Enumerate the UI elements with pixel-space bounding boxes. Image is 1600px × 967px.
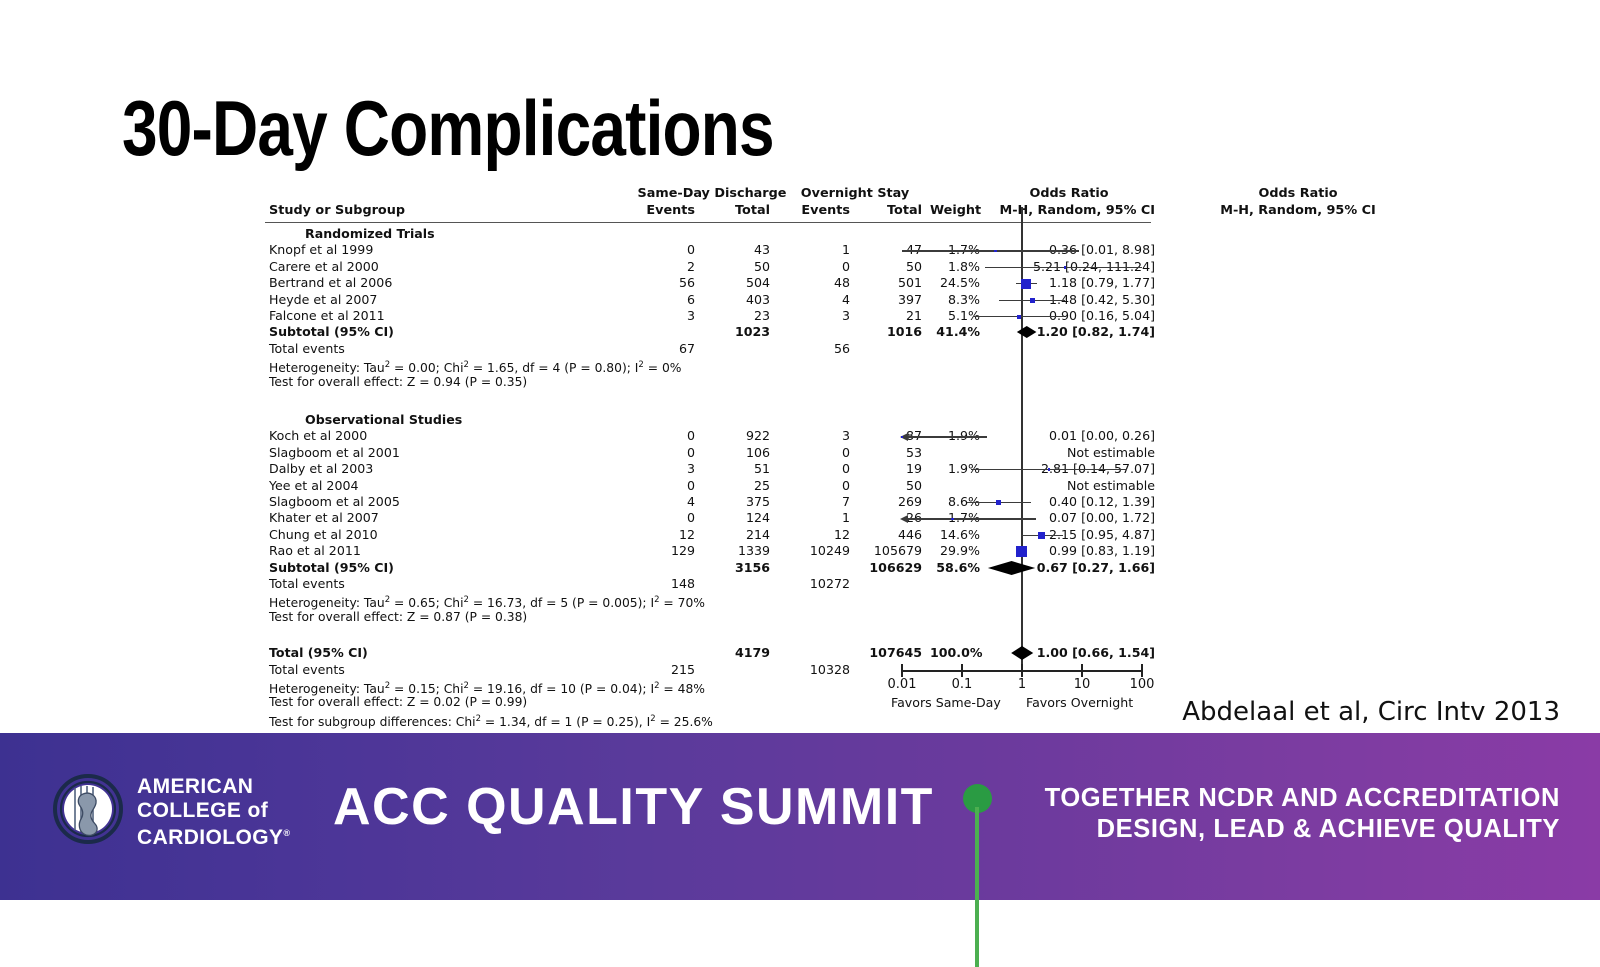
grand-total-events-1: 215 (635, 662, 695, 678)
events-1: 129 (635, 543, 695, 559)
footer-tagline: TOGETHER NCDR AND ACCREDITATION DESIGN, … (1012, 783, 1560, 845)
events-2: 4 (790, 292, 850, 308)
axis-tick (1081, 664, 1083, 677)
total-1: 50 (710, 259, 770, 275)
total-1: 43 (710, 242, 770, 258)
axis-tick-label: 0.1 (952, 677, 973, 692)
events-2: 3 (790, 428, 850, 444)
study-marker (996, 500, 1001, 505)
total-1: 403 (710, 292, 770, 308)
events-2: 1 (790, 510, 850, 526)
events-1: 56 (635, 275, 695, 291)
forest-plot-graph: 0.010.1110100Favors Same-DayFavors Overn… (889, 186, 1155, 721)
registered-mark-icon: ® (283, 828, 290, 838)
subgroup-differences-text: Test for subgroup differences: Chi2 = 1.… (269, 711, 929, 730)
page-title: 30-Day Complications (122, 83, 774, 173)
study-name: Yee et al 2004 (269, 478, 358, 494)
total-1: 51 (710, 461, 770, 477)
grand-total-events-label: Total events (269, 662, 345, 678)
events-1: 0 (635, 445, 695, 461)
ci-left-arrow-icon (900, 515, 908, 523)
axis-tick (1021, 664, 1023, 677)
study-marker (1048, 468, 1051, 471)
study-name: Slagboom et al 2001 (269, 445, 400, 461)
events-1: 12 (635, 527, 695, 543)
total-1: 124 (710, 510, 770, 526)
events-1: 3 (635, 461, 695, 477)
total-1: 922 (710, 428, 770, 444)
acc-logo-icon (53, 774, 123, 844)
study-name: Carere et al 2000 (269, 259, 379, 275)
favors-right-label: Favors Overnight (1026, 695, 1133, 710)
study-marker (1064, 266, 1067, 269)
study-marker (994, 250, 997, 253)
study-name: Dalby et al 2003 (269, 461, 373, 477)
total-events-2: 10272 (790, 576, 850, 592)
plot-axis: 0.010.1110100Favors Same-DayFavors Overn… (889, 660, 1155, 706)
grand-total-events-2: 10328 (790, 662, 850, 678)
total-total-1: 4179 (710, 645, 770, 661)
axis-tick-label: 100 (1130, 677, 1155, 692)
events-2: 12 (790, 527, 850, 543)
study-name: Falcone et al 2011 (269, 308, 385, 324)
confidence-interval-line (902, 250, 1079, 251)
subtotal-label: Subtotal (95% CI) (269, 324, 394, 340)
total-events-1: 148 (635, 576, 695, 592)
header-events-1: Events (635, 203, 695, 219)
study-name: Rao et al 2011 (269, 543, 361, 559)
favors-left-label: Favors Same-Day (891, 695, 1001, 710)
total-1: 504 (710, 275, 770, 291)
events-1: 6 (635, 292, 695, 308)
confidence-interval-line (908, 436, 987, 437)
total-overall-effect-text: Test for overall effect: Z = 0.02 (P = 0… (269, 694, 929, 710)
events-2: 0 (790, 461, 850, 477)
green-pin-stem-icon (975, 807, 979, 967)
overall-effect-text: Test for overall effect: Z = 0.87 (P = 0… (269, 609, 909, 625)
forest-plot: Same-Day DischargeOvernight StayOdds Rat… (265, 186, 1155, 721)
study-name: Heyde et al 2007 (269, 292, 377, 308)
footer-banner: AMERICAN COLLEGE of CARDIOLOGY® ACC QUAL… (0, 733, 1600, 900)
events-2: 48 (790, 275, 850, 291)
subgroup-header: Observational Studies (305, 412, 462, 428)
total-1: 25 (710, 478, 770, 494)
subtotal-label: Subtotal (95% CI) (269, 560, 394, 576)
acc-line-2: COLLEGE of (137, 799, 290, 823)
total-1: 23 (710, 308, 770, 324)
study-marker (1017, 315, 1021, 319)
events-2: 10249 (790, 543, 850, 559)
subgroup-header: Randomized Trials (305, 226, 435, 242)
subtotal-total-1: 3156 (710, 560, 770, 576)
events-1: 4 (635, 494, 695, 510)
total-events-2: 56 (790, 341, 850, 357)
study-name: Chung et al 2010 (269, 527, 378, 543)
events-1: 0 (635, 510, 695, 526)
events-1: 0 (635, 428, 695, 444)
summit-title: ACC QUALITY SUMMIT (333, 777, 934, 837)
axis-tick-label: 0.01 (888, 677, 917, 692)
total-events-label: Total events (269, 341, 345, 357)
axis-tick (961, 664, 963, 677)
study-name: Bertrand et al 2006 (269, 275, 392, 291)
events-2: 7 (790, 494, 850, 510)
events-1: 3 (635, 308, 695, 324)
summary-diamond (889, 560, 1155, 576)
total-label: Total (95% CI) (269, 645, 368, 661)
acc-line-1: AMERICAN (137, 775, 290, 799)
study-name: Khater et al 2007 (269, 510, 379, 526)
events-2: 0 (790, 259, 850, 275)
total-1: 1339 (710, 543, 770, 559)
header-effect-sub-right: M-H, Random, 95% CI (1165, 203, 1431, 219)
events-2: 3 (790, 308, 850, 324)
header-study-or-subgroup: Study or Subgroup (269, 203, 405, 219)
total-1: 214 (710, 527, 770, 543)
acc-logo-wordmark: AMERICAN COLLEGE of CARDIOLOGY® (137, 775, 290, 850)
axis-tick-label: 10 (1074, 677, 1091, 692)
header-same-day-discharge: Same-Day Discharge (637, 186, 787, 202)
header-events-2: Events (790, 203, 850, 219)
total-events-label: Total events (269, 576, 345, 592)
events-2: 0 (790, 445, 850, 461)
total-1: 106 (710, 445, 770, 461)
study-marker (1016, 546, 1027, 557)
events-1: 0 (635, 478, 695, 494)
confidence-interval-line (908, 518, 1036, 519)
axis-tick-label: 1 (1018, 677, 1026, 692)
overall-effect-text: Test for overall effect: Z = 0.94 (P = 0… (269, 374, 909, 390)
total-1: 375 (710, 494, 770, 510)
events-2: 0 (790, 478, 850, 494)
axis-tick (901, 664, 903, 677)
subtotal-total-1: 1023 (710, 324, 770, 340)
header-total-1: Total (710, 203, 770, 219)
study-name: Koch et al 2000 (269, 428, 367, 444)
study-marker (1021, 279, 1031, 289)
summary-diamond (889, 645, 1155, 661)
study-name: Knopf et al 1999 (269, 242, 373, 258)
acc-line-3: CARDIOLOGY® (137, 822, 290, 850)
events-2: 1 (790, 242, 850, 258)
null-effect-line (1021, 207, 1023, 670)
tagline-line-2: DESIGN, LEAD & ACHIEVE QUALITY (1012, 814, 1560, 845)
events-1: 0 (635, 242, 695, 258)
study-marker (1038, 532, 1045, 539)
axis-tick (1141, 664, 1143, 677)
total-events-1: 67 (635, 341, 695, 357)
tagline-line-1: TOGETHER NCDR AND ACCREDITATION (1012, 783, 1560, 814)
study-marker (1030, 298, 1035, 303)
study-marker (901, 436, 904, 439)
citation-text: Abdelaal et al, Circ Intv 2013 (1182, 697, 1560, 727)
study-name: Slagboom et al 2005 (269, 494, 400, 510)
study-marker (951, 518, 954, 521)
events-1: 2 (635, 259, 695, 275)
header-odds-ratio-right: Odds Ratio (1165, 186, 1431, 202)
summary-diamond (889, 325, 1155, 339)
